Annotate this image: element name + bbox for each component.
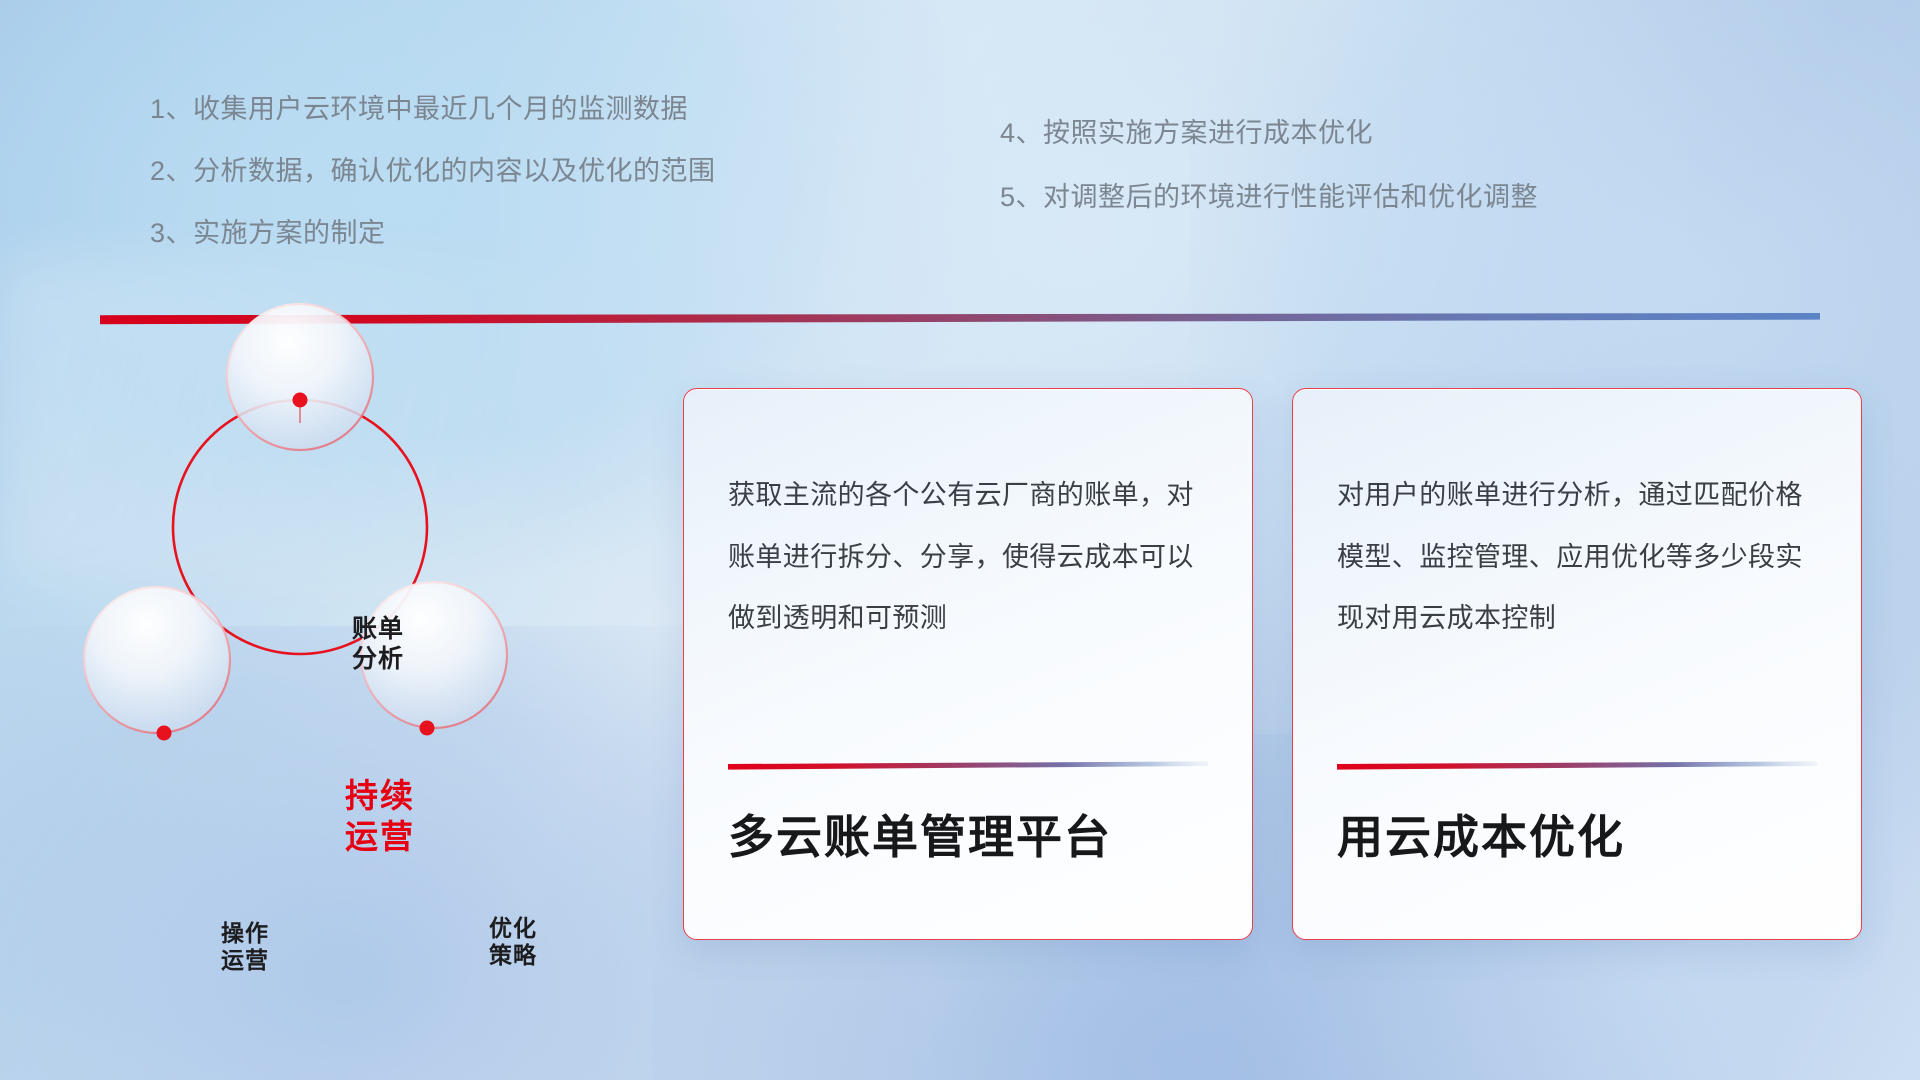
card-title: 用云成本优化 bbox=[1337, 809, 1827, 867]
card-body-text: 获取主流的各个公有云厂商的账单，对账单进行拆分、分享，使得云成本可以做到透明和可… bbox=[728, 465, 1218, 650]
card-cloud-cost-optimization[interactable]: 对用户的账单进行分析，通过匹配价格模型、监控管理、应用优化等多少段实现对用云成本… bbox=[1292, 388, 1862, 940]
cards-section: 获取主流的各个公有云厂商的账单，对账单进行拆分、分享，使得云成本可以做到透明和可… bbox=[0, 0, 1920, 1080]
card-divider-shape bbox=[1337, 761, 1817, 770]
card-body-text: 对用户的账单进行分析，通过匹配价格模型、监控管理、应用优化等多少段实现对用云成本… bbox=[1337, 465, 1827, 650]
card-divider-shape bbox=[728, 761, 1208, 770]
card-title: 多云账单管理平台 bbox=[728, 809, 1218, 867]
card-divider-rule bbox=[1337, 761, 1817, 770]
card-divider-rule bbox=[728, 761, 1208, 770]
card-multi-cloud-billing[interactable]: 获取主流的各个公有云厂商的账单，对账单进行拆分、分享，使得云成本可以做到透明和可… bbox=[683, 388, 1253, 940]
